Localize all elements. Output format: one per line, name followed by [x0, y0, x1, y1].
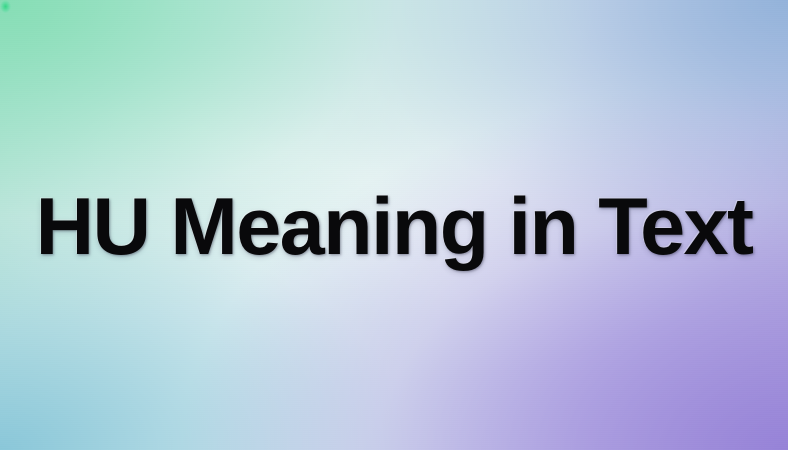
page-title: HU Meaning in Text: [36, 187, 753, 268]
headline-container: HU Meaning in Text: [0, 0, 788, 450]
title-banner: HU Meaning in Text: [0, 0, 788, 450]
